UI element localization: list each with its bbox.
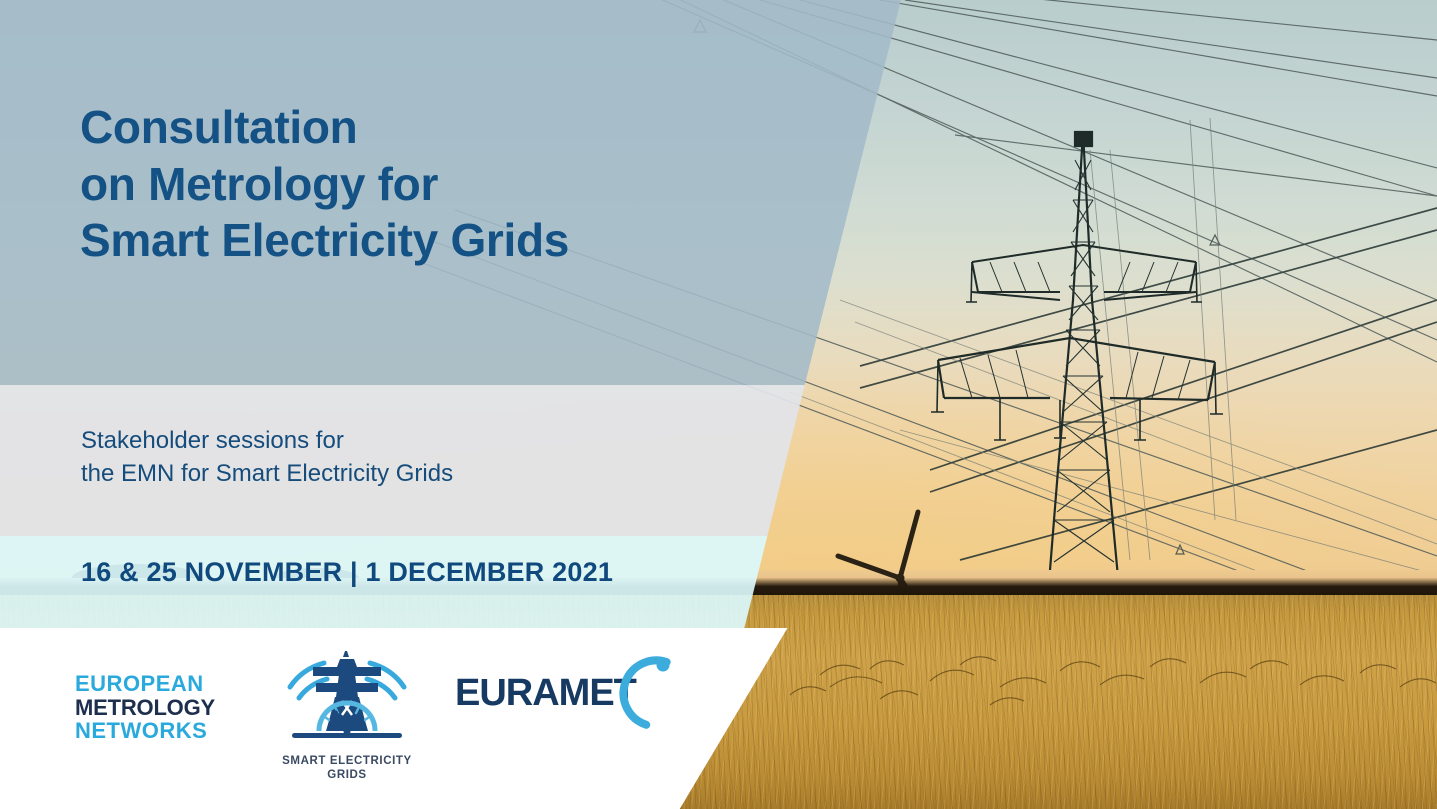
seg-line-2: GRIDS bbox=[272, 768, 422, 782]
page-title: Consultation on Metrology for Smart Elec… bbox=[80, 99, 569, 269]
emn-line-1: EUROPEAN bbox=[75, 672, 215, 696]
logo-european-metrology-networks: EUROPEAN METROLOGY NETWORKS bbox=[75, 672, 215, 743]
emn-line-2: METROLOGY bbox=[75, 696, 215, 720]
emn-line-3: NETWORKS bbox=[75, 719, 215, 743]
euramet-ring-icon bbox=[607, 648, 685, 732]
logo-smart-electricity-grids: SMART ELECTRICITY GRIDS bbox=[272, 645, 422, 783]
page-subtitle: Stakeholder sessions for the EMN for Sma… bbox=[81, 424, 453, 490]
pylon-gauge-icon bbox=[272, 645, 422, 745]
slide-banner: Consultation on Metrology for Smart Elec… bbox=[0, 0, 1437, 809]
seg-wordmark: SMART ELECTRICITY GRIDS bbox=[272, 754, 422, 783]
seg-line-1: SMART ELECTRICITY bbox=[272, 754, 422, 768]
event-dates: 16 & 25 NOVEMBER | 1 DECEMBER 2021 bbox=[81, 557, 613, 588]
logo-euramet: EURAMET bbox=[455, 672, 636, 715]
